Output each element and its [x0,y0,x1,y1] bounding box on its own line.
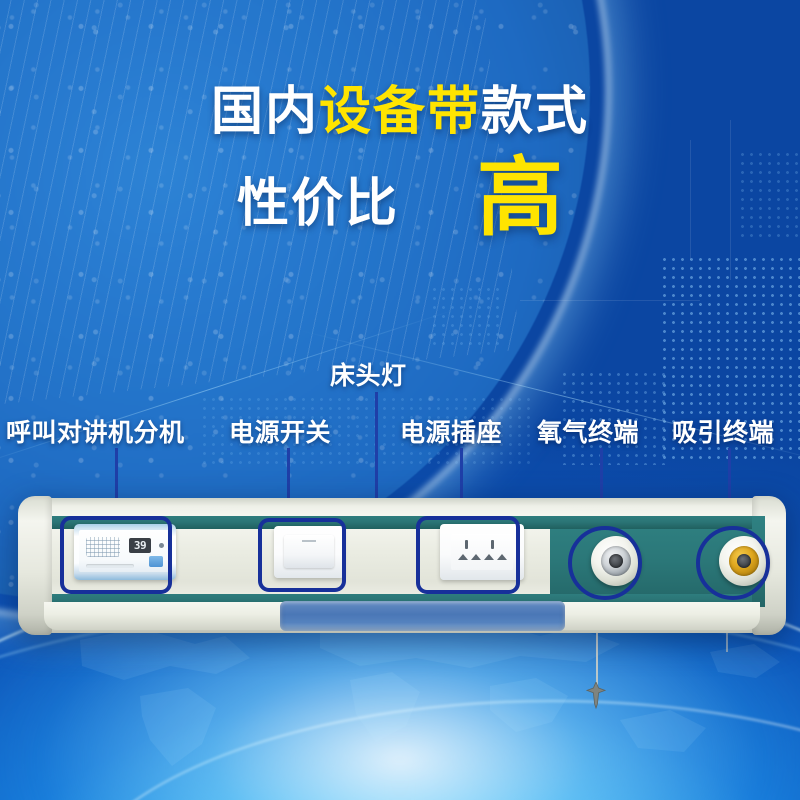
socket-pin-icon [471,554,481,560]
suction-outlet-core [737,554,751,568]
bed-lamp-diffuser[interactable] [280,601,565,631]
callout-text-intercom: 呼叫对讲机分机 [6,419,185,447]
gas-outlet-icon [601,546,631,576]
nurse-call-intercom-unit[interactable]: 39 [74,524,176,580]
led-indicator-icon [159,543,164,548]
socket-pin-icon [465,540,468,549]
headline-line-2: 性价比 [237,161,399,236]
headline-block: 国内设备带款式 性价比 高 [0,86,800,237]
poster-canvas: 国内设备带款式 性价比 高 呼叫对讲机分机 电源开关 床头灯 电源插座 氧气终端… [0,0,800,800]
headline-seg-2: 设备带 [319,83,481,141]
oxygen-terminal-outlet[interactable] [591,536,641,586]
bed-head-unit-panel: 39 [22,498,782,633]
callout-label-oxygen: 氧气终端 [537,413,639,449]
headline-line-2-row: 性价比 高 [0,160,800,237]
dot-matrix-decoration-c [430,285,500,345]
oxygen-outlet-core [609,554,623,568]
callout-label-bedlamp: 床头灯 [330,356,407,392]
tech-line-3 [520,300,700,301]
power-switch-plate[interactable] [274,526,344,578]
headline-seg-1: 国内 [211,83,319,141]
callout-text-suction: 吸引终端 [672,419,774,447]
switch-mark-icon [302,540,316,542]
intercom-faceplate: 39 [79,530,171,572]
speaker-grille-icon [86,537,120,557]
socket-pin-icon [491,540,494,549]
socket-pin-icon [458,554,468,560]
socket-faceplate [451,534,513,570]
hook-icon [582,682,610,721]
callout-label-suction: 吸引终端 [672,413,774,449]
callout-text-oxygen: 氧气终端 [537,419,639,447]
callout-label-switch: 电源开关 [229,413,331,449]
callout-label-intercom: 呼叫对讲机分机 [6,413,185,449]
callout-text-bedlamp: 床头灯 [330,362,407,390]
lcd-display-icon: 39 [129,538,151,553]
intercom-call-button[interactable] [149,556,163,567]
intercom-display-value: 39 [134,539,146,552]
headline-line-1: 国内设备带款式 [0,86,800,138]
callout-text-switch: 电源开关 [229,419,331,447]
headline-accent-character: 高 [477,160,563,237]
suction-terminal-outlet[interactable] [719,536,769,586]
power-socket-plate[interactable] [440,524,524,580]
power-switch-rocker[interactable] [284,535,334,568]
socket-pin-icon [497,554,507,560]
intercom-slot [86,564,134,568]
gas-outlet-icon [729,546,759,576]
socket-pin-icon [484,554,494,560]
headline-seg-3: 款式 [481,83,589,141]
callout-text-socket: 电源插座 [400,419,502,447]
callout-label-socket: 电源插座 [400,413,502,449]
